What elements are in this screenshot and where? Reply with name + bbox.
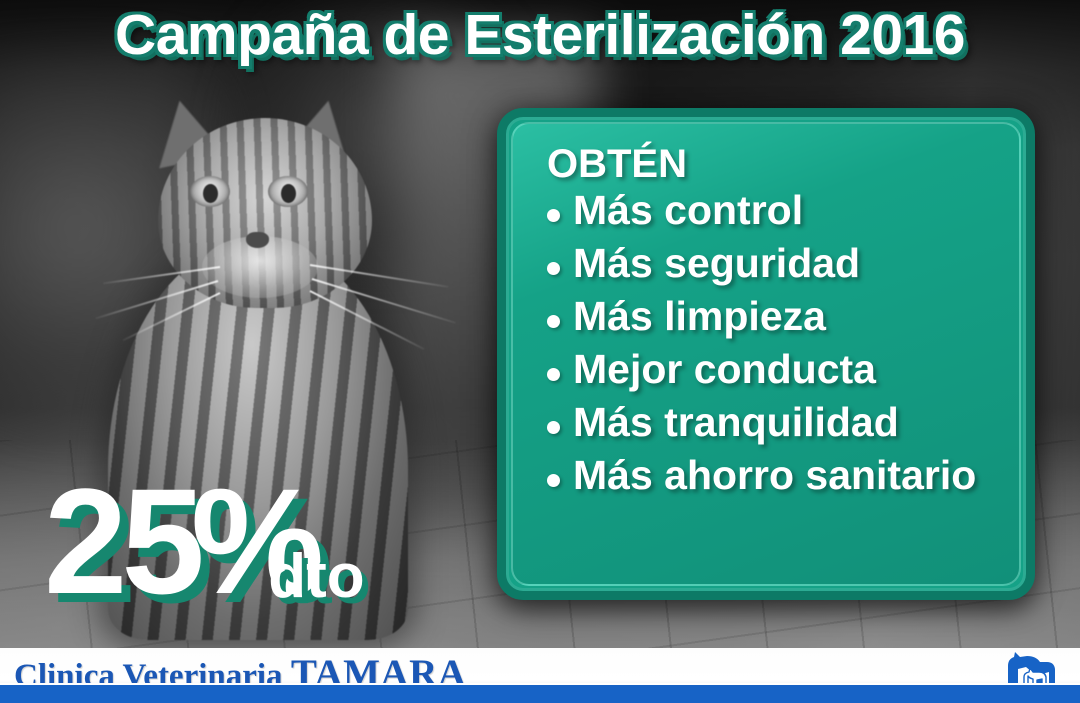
list-item: Más ahorro sanitario <box>535 454 997 497</box>
discount-badge: 25 % dto <box>44 466 365 616</box>
benefits-panel-inner: OBTÉN Más control Más seguridad Más limp… <box>511 122 1021 586</box>
list-item: Mejor conducta <box>535 348 997 391</box>
list-item: Más tranquilidad <box>535 401 997 444</box>
benefits-list: Más control Más seguridad Más limpieza M… <box>535 189 997 497</box>
discount-number: 25 <box>44 466 199 616</box>
list-item: Más limpieza <box>535 295 997 338</box>
discount-suffix: dto <box>268 546 364 608</box>
page-title: Campaña de Esterilización 2016 <box>0 2 1080 68</box>
footer-accent-stripe <box>0 683 1080 703</box>
cat-nose <box>246 232 269 248</box>
list-item: Más seguridad <box>535 242 997 285</box>
benefits-panel: OBTÉN Más control Más seguridad Más limp… <box>497 108 1035 600</box>
cat-pupil-left <box>203 184 218 203</box>
poster: Campaña de Esterilización 2016 25 % dto … <box>0 0 1080 703</box>
dog-and-cat-logo-icon <box>1000 650 1062 686</box>
benefits-heading: OBTÉN <box>547 142 997 187</box>
list-item: Más control <box>535 189 997 232</box>
cat-pupil-right <box>281 184 296 203</box>
footer-bar: Clinica Veterinaria TAMARA <box>0 648 1080 703</box>
